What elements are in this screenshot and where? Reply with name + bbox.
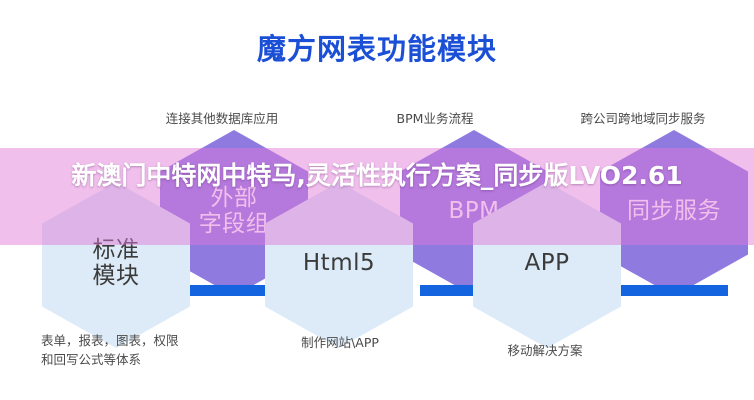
bottom-caption-1-line1: 制作网站\APP (240, 333, 440, 352)
bottom-caption-1: 制作网站\APP (240, 333, 440, 352)
hexagon-label: 标准 模块 (93, 238, 140, 292)
bottom-caption-2: 移动解决方案 (445, 341, 645, 360)
hexagon-label: APP (525, 251, 570, 279)
bottom-caption-2-line1: 移动解决方案 (445, 341, 645, 360)
diagram-canvas: 魔方网表功能模块 连接其他数据库应用 BPM业务流程 跨公司跨地域同步服务 外部… (0, 0, 754, 400)
hexagon-label-line1: Html5 (303, 250, 375, 276)
bottom-caption-0-line1: 表单，报表，图表，权限 (41, 331, 231, 350)
overlay-headline: 新澳门中特网中特马,灵活性执行方案_同步版LVO2.61 (0, 160, 754, 192)
hexagon-label-line1: APP (525, 250, 570, 276)
hexagon-label: Html5 (303, 251, 375, 279)
bottom-caption-0: 表单，报表，图表，权限 和回写公式等体系 (41, 331, 231, 370)
hexagon-label-line2: 模块 (93, 263, 140, 289)
bottom-caption-0-line2: 和回写公式等体系 (41, 350, 231, 369)
hexagon-accent-bar-sync (620, 285, 728, 296)
